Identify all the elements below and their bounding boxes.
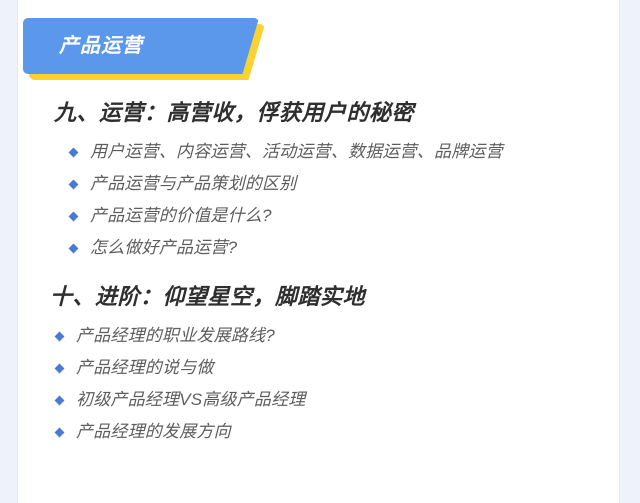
section-nine-bullets: 用户运营、内容运营、活动运营、数据运营、品牌运营 产品运营与产品策划的区别 产品… (18, 136, 619, 264)
page-edge-line-right (619, 0, 620, 503)
list-item: 怎么做好产品运营? (70, 232, 619, 264)
list-item: 初级产品经理VS高级产品经理 (56, 384, 619, 416)
section-ten-bullets: 产品经理的职业发展路线? 产品经理的说与做 初级产品经理VS高级产品经理 产品经… (18, 320, 619, 448)
section-ten: 十、进阶：仰望星空，脚踏实地 产品经理的职业发展路线? 产品经理的说与做 初级产… (18, 280, 619, 448)
list-item-label: 怎么做好产品运营? (90, 232, 237, 264)
diamond-bullet-icon (69, 180, 79, 190)
section-list: 九、运营：高营收，俘获用户的秘密 用户运营、内容运营、活动运营、数据运营、品牌运… (18, 96, 619, 448)
list-item-label: 产品经理的发展方向 (76, 416, 231, 448)
list-item-label: 产品运营的价值是什么? (90, 200, 272, 232)
section-banner: 产品运营 (23, 18, 263, 80)
list-item: 产品经理的发展方向 (56, 416, 619, 448)
banner-title: 产品运营 (59, 36, 143, 56)
list-item: 产品运营与产品策划的区别 (70, 168, 619, 200)
list-item-label: 产品经理的说与做 (76, 352, 214, 384)
page-gutter-left (0, 0, 17, 503)
list-item: 用户运营、内容运营、活动运营、数据运营、品牌运营 (70, 136, 619, 168)
banner-shape: 产品运营 (23, 18, 259, 74)
list-item-label: 产品运营与产品策划的区别 (90, 168, 296, 200)
list-item-label: 初级产品经理VS高级产品经理 (76, 384, 305, 416)
diamond-bullet-icon (55, 332, 65, 342)
diamond-bullet-icon (55, 396, 65, 406)
section-ten-heading: 十、进阶：仰望星空，脚踏实地 (50, 280, 619, 314)
diamond-bullet-icon (55, 428, 65, 438)
list-item-label: 产品经理的职业发展路线? (76, 320, 275, 352)
article-page: 产品运营 九、运营：高营收，俘获用户的秘密 用户运营、内容运营、活动运营、数据运… (0, 0, 640, 503)
list-item: 产品运营的价值是什么? (70, 200, 619, 232)
section-nine: 九、运营：高营收，俘获用户的秘密 用户运营、内容运营、活动运营、数据运营、品牌运… (18, 96, 619, 264)
section-nine-heading: 九、运营：高营收，俘获用户的秘密 (54, 96, 619, 130)
diamond-bullet-icon (55, 364, 65, 374)
diamond-bullet-icon (69, 148, 79, 158)
page-gutter-right (620, 0, 640, 503)
list-item: 产品经理的职业发展路线? (56, 320, 619, 352)
article-content: 产品运营 九、运营：高营收，俘获用户的秘密 用户运营、内容运营、活动运营、数据运… (18, 0, 619, 503)
list-item: 产品经理的说与做 (56, 352, 619, 384)
diamond-bullet-icon (69, 244, 79, 254)
list-item-label: 用户运营、内容运营、活动运营、数据运营、品牌运营 (90, 136, 503, 168)
diamond-bullet-icon (69, 212, 79, 222)
